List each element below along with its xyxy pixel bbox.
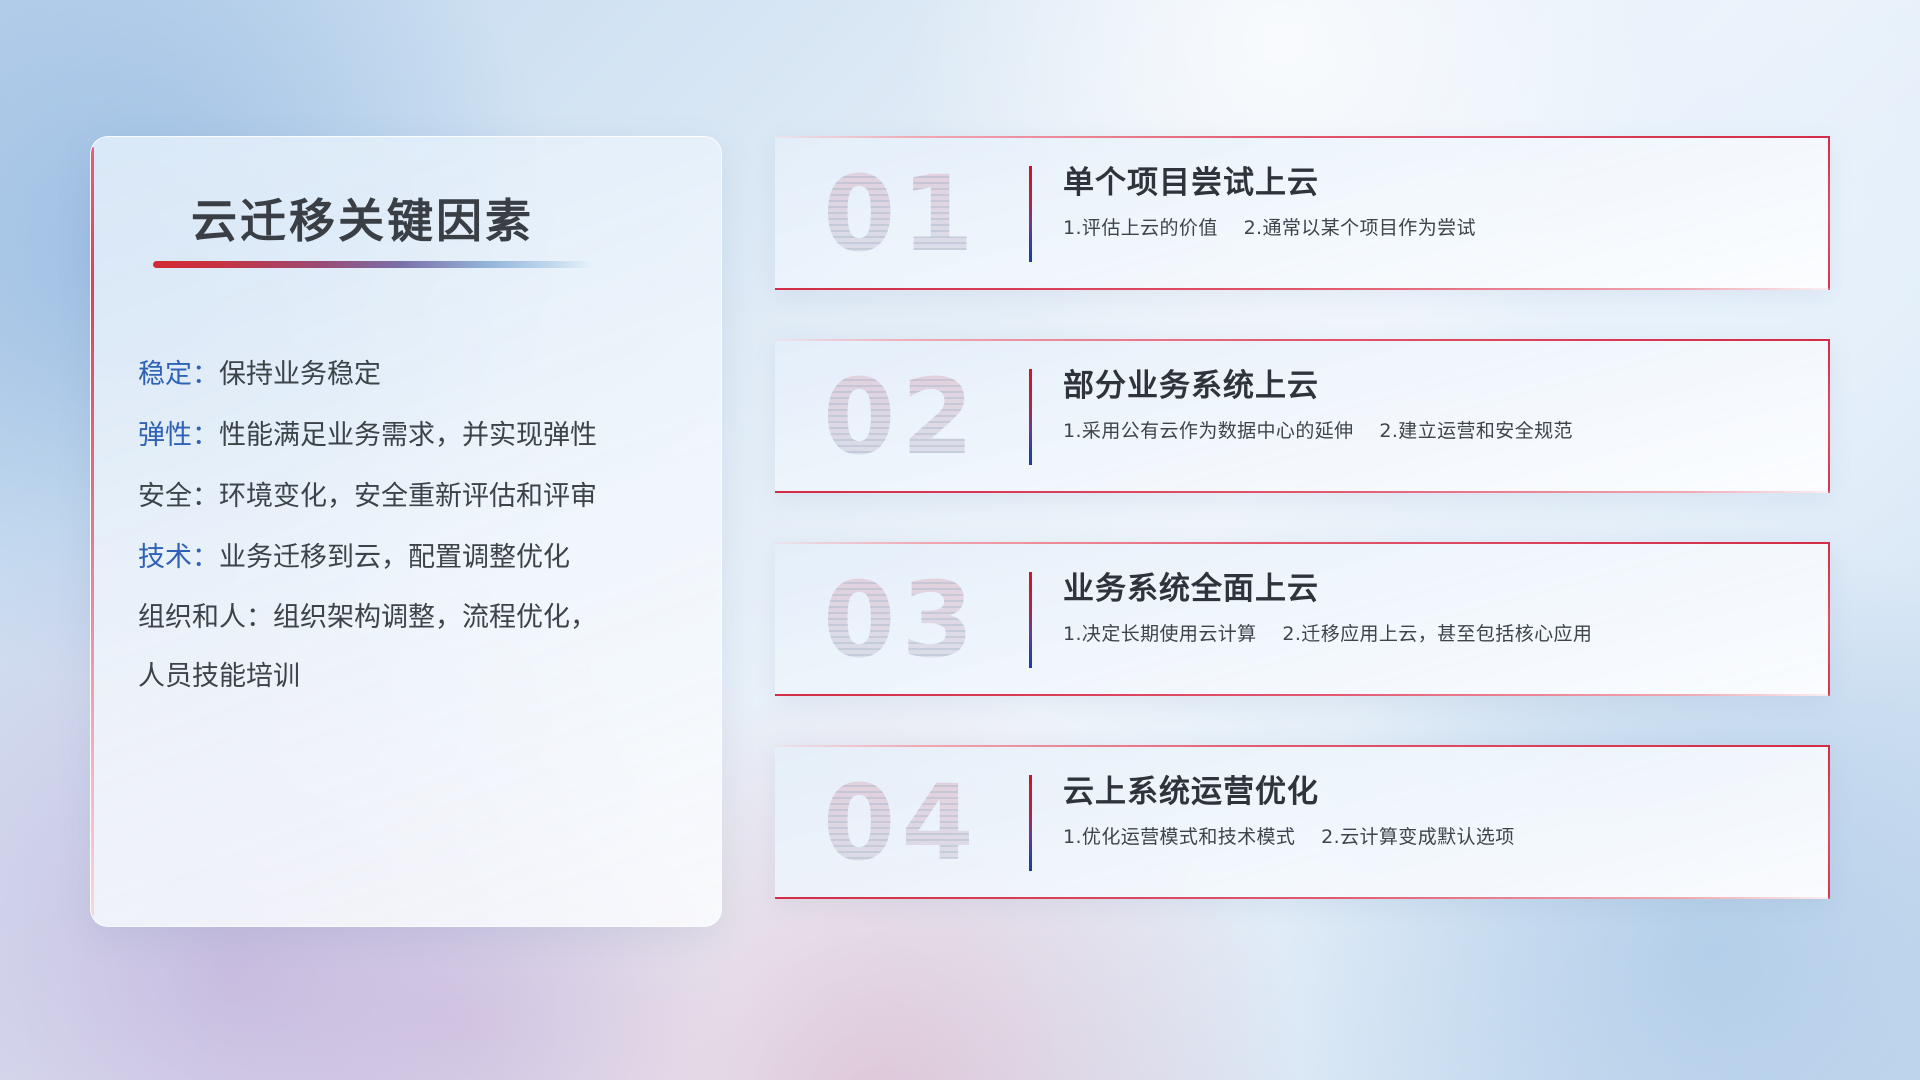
card-right-accent-line: [1828, 339, 1830, 493]
list-item-text: 性能满足业务需求，并实现弹性: [219, 420, 597, 451]
list-item-text: 环境变化，安全重新评估和评审: [219, 481, 597, 512]
list-item-key: 组织和人：: [138, 602, 273, 633]
card-body: 云上系统运营优化 1.优化运营模式和技术模式 2.云计算变成默认选项: [1063, 770, 1806, 851]
card-description: 1.优化运营模式和技术模式 2.云计算变成默认选项: [1063, 823, 1806, 851]
card-body: 单个项目尝试上云 1.评估上云的价值 2.通常以某个项目作为尝试: [1063, 161, 1806, 242]
card-body: 业务系统全面上云 1.决定长期使用云计算 2.迁移应用上云，甚至包括核心应用: [1063, 567, 1806, 648]
card-title: 部分业务系统上云: [1063, 364, 1806, 408]
key-factors-list: 稳定：保持业务稳定 弹性：性能满足业务需求，并实现弹性 安全：环境变化，安全重新…: [138, 344, 691, 706]
list-item-text: 组织架构调整，流程优化，: [273, 602, 597, 633]
card-top-accent-line: [775, 339, 1830, 341]
list-item: 组织和人：组织架构调整，流程优化，: [138, 588, 691, 647]
card-step-number: 01: [823, 152, 1013, 276]
card-bottom-accent-line: [775, 288, 1830, 290]
card-top-accent-line: [775, 136, 1830, 138]
card-divider-bar: [1029, 775, 1032, 871]
stage-card[interactable]: 04 云上系统运营优化 1.优化运营模式和技术模式 2.云计算变成默认选项: [775, 745, 1830, 899]
stage-cards-list: 01 单个项目尝试上云 1.评估上云的价值 2.通常以某个项目作为尝试 02 部…: [775, 136, 1830, 948]
card-description: 1.评估上云的价值 2.通常以某个项目作为尝试: [1063, 214, 1806, 242]
stage-card[interactable]: 02 部分业务系统上云 1.采用公有云作为数据中心的延伸 2.建立运营和安全规范: [775, 339, 1830, 493]
card-title: 业务系统全面上云: [1063, 567, 1806, 611]
list-item-key: 弹性：: [138, 420, 219, 451]
card-description: 1.采用公有云作为数据中心的延伸 2.建立运营和安全规范: [1063, 417, 1806, 445]
list-item: 人员技能培训: [138, 647, 691, 706]
card-step-number: 04: [823, 761, 1013, 885]
list-item: 技术：业务迁移到云，配置调整优化: [138, 527, 691, 588]
list-item: 安全：环境变化，安全重新评估和评审: [138, 466, 691, 527]
card-bottom-accent-line: [775, 897, 1830, 899]
card-divider-bar: [1029, 572, 1032, 668]
card-right-accent-line: [1828, 745, 1830, 899]
card-title: 单个项目尝试上云: [1063, 161, 1806, 205]
page-title: 云迁移关键因素: [191, 185, 534, 251]
card-right-accent-line: [1828, 542, 1830, 696]
card-bottom-accent-line: [775, 491, 1830, 493]
list-item-text: 保持业务稳定: [219, 359, 381, 390]
key-factors-panel: 云迁移关键因素 稳定：保持业务稳定 弹性：性能满足业务需求，并实现弹性 安全：环…: [90, 136, 722, 927]
card-step-number: 03: [823, 558, 1013, 682]
card-body: 部分业务系统上云 1.采用公有云作为数据中心的延伸 2.建立运营和安全规范: [1063, 364, 1806, 445]
stage-card[interactable]: 03 业务系统全面上云 1.决定长期使用云计算 2.迁移应用上云，甚至包括核心应…: [775, 542, 1830, 696]
card-title: 云上系统运营优化: [1063, 770, 1806, 814]
list-item-text: 业务迁移到云，配置调整优化: [219, 542, 570, 573]
title-underline-accent: [153, 261, 593, 268]
list-item-key: 稳定：: [138, 359, 219, 390]
list-item-key: 技术：: [138, 542, 219, 573]
list-item-key: 安全：: [138, 481, 219, 512]
list-item-text: 人员技能培训: [138, 661, 300, 692]
card-divider-bar: [1029, 369, 1032, 465]
card-divider-bar: [1029, 166, 1032, 262]
card-right-accent-line: [1828, 136, 1830, 290]
card-description: 1.决定长期使用云计算 2.迁移应用上云，甚至包括核心应用: [1063, 620, 1806, 648]
card-step-number: 02: [823, 355, 1013, 479]
list-item: 稳定：保持业务稳定: [138, 344, 691, 405]
list-item: 弹性：性能满足业务需求，并实现弹性: [138, 405, 691, 466]
card-bottom-accent-line: [775, 694, 1830, 696]
card-top-accent-line: [775, 745, 1830, 747]
stage-card[interactable]: 01 单个项目尝试上云 1.评估上云的价值 2.通常以某个项目作为尝试: [775, 136, 1830, 290]
card-top-accent-line: [775, 542, 1830, 544]
